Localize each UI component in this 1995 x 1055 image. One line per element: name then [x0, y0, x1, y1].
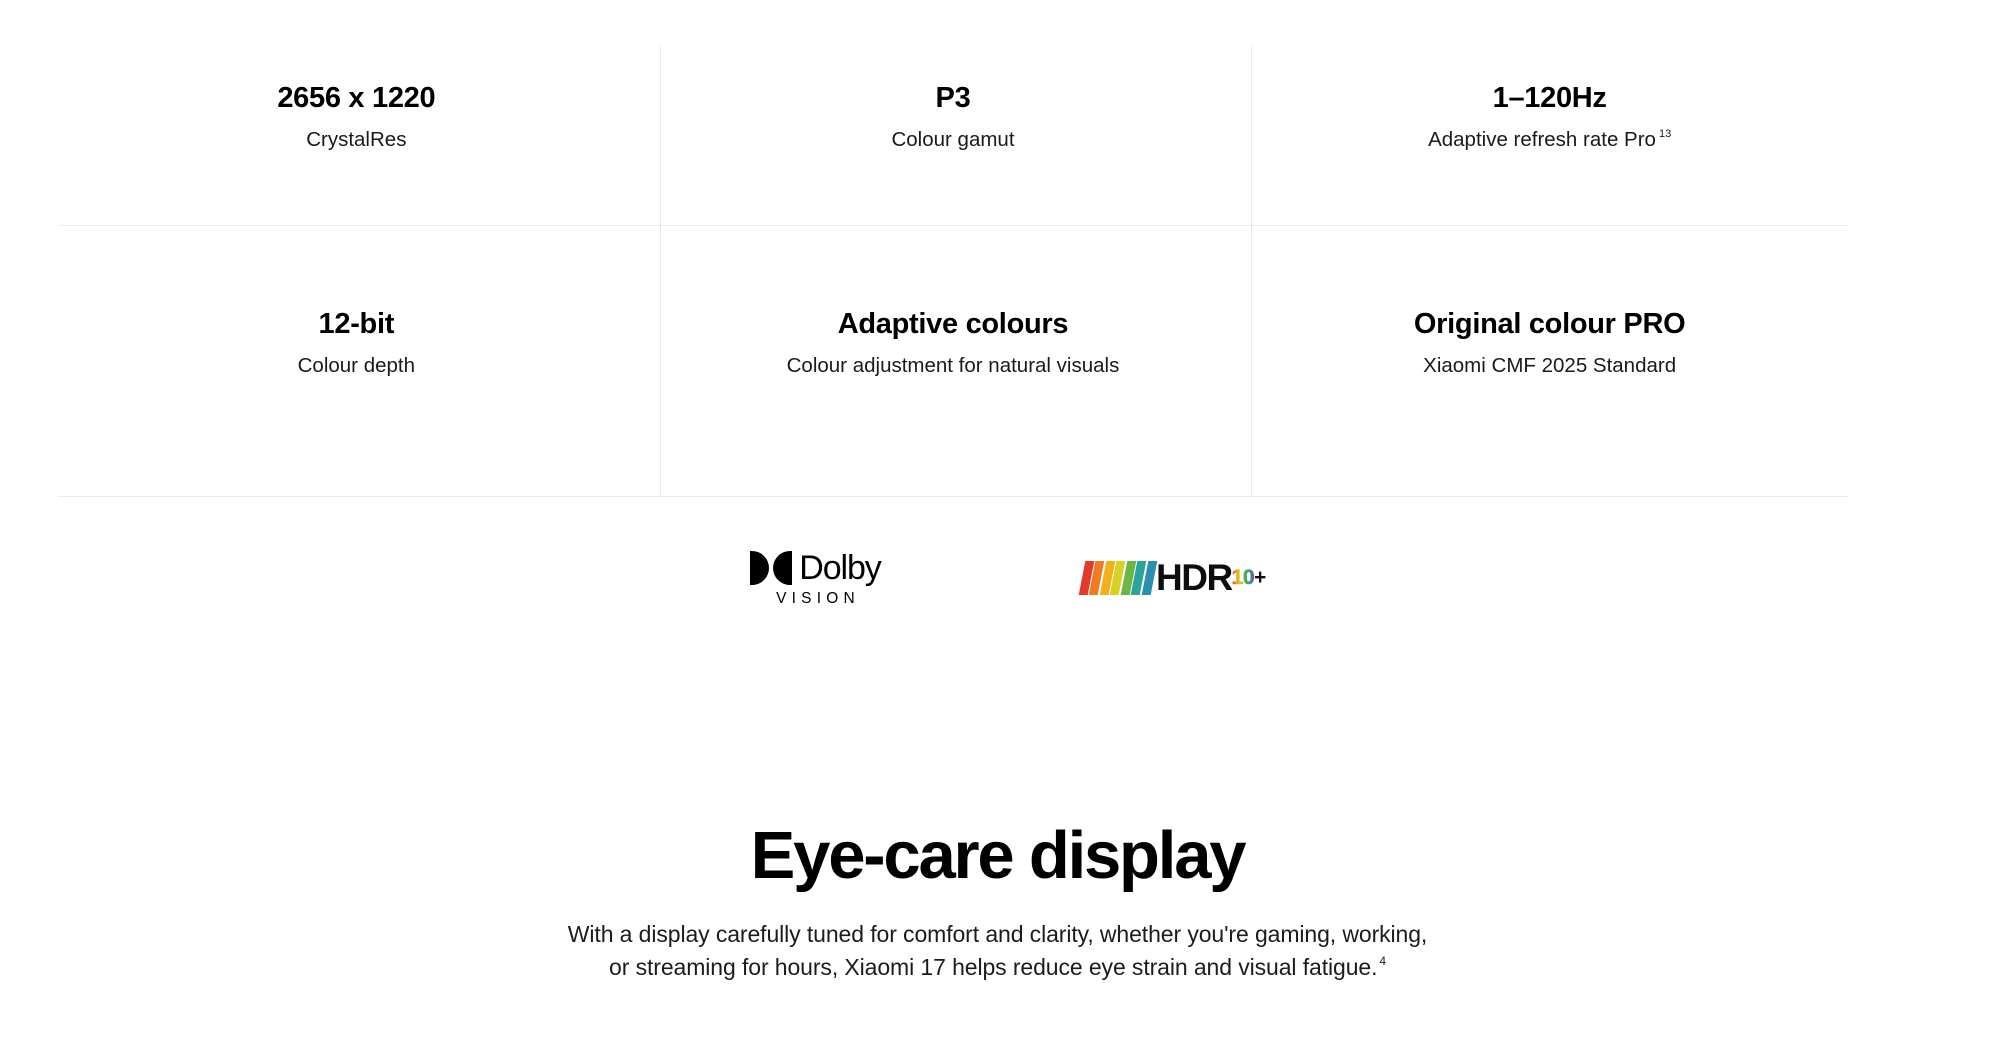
eye-care-description-line-1: With a display carefully tuned for comfo… [568, 921, 1427, 947]
dolby-d-right-shape [773, 551, 792, 585]
certification-logo-row: Dolby VISION HDR 10 + [0, 533, 1995, 623]
spec-cell-adaptive-colours: Adaptive colours Colour adjustment for n… [655, 225, 1252, 497]
grid-divider-horizontal [58, 225, 1848, 226]
grid-divider-vertical [1251, 45, 1252, 225]
spec-label: Colour adjustment for natural visuals [787, 353, 1120, 380]
hdr10plus-icon: HDR 10 + [1082, 557, 1282, 599]
eye-care-description: With a display carefully tuned for comfo… [0, 918, 1995, 983]
grid-divider-vertical [660, 45, 661, 225]
spec-label: Adaptive refresh rate Pro13 [1428, 127, 1671, 154]
grid-divider-vertical [1251, 225, 1252, 497]
spec-cell-colour-gamut: P3 Colour gamut [655, 0, 1252, 225]
hdr-word: HDR [1156, 561, 1232, 595]
display-specs-page: 2656 x 1220 CrystalRes P3 Colour gamut 1… [0, 0, 1995, 1055]
spec-label-text: Colour gamut [891, 128, 1014, 151]
dolby-d-left-shape [750, 551, 769, 585]
dolby-double-d-icon [750, 551, 792, 585]
footnote-marker: 4 [1379, 954, 1386, 968]
spec-value: Original colour PRO [1414, 308, 1685, 341]
spec-grid-row: 12-bit Colour depth Adaptive colours Col… [58, 225, 1848, 497]
spec-cell-refresh-rate: 1–120Hz Adaptive refresh rate Pro13 [1251, 0, 1848, 225]
footnote-marker: 13 [1659, 128, 1671, 140]
dolby-vision-subtext: VISION [771, 591, 860, 607]
spec-value: Adaptive colours [838, 308, 1068, 341]
spec-label: CrystalRes [306, 127, 406, 154]
eye-care-section: Eye-care display With a display carefull… [0, 820, 1995, 984]
spec-cell-colour-depth: 12-bit Colour depth [58, 225, 655, 497]
spec-value: 2656 x 1220 [277, 82, 435, 115]
grid-divider-vertical [660, 225, 661, 497]
spec-grid: 2656 x 1220 CrystalRes P3 Colour gamut 1… [58, 0, 1848, 497]
dolby-vision-icon: Dolby VISION [732, 549, 900, 607]
spec-value: 12-bit [319, 308, 395, 341]
spec-value: P3 [936, 82, 971, 115]
hdr-ten: 10 [1232, 566, 1254, 590]
spec-label: Colour depth [298, 353, 415, 380]
spec-label-text: CrystalRes [306, 128, 406, 151]
spec-label-text: Colour depth [298, 354, 415, 377]
spec-label-text: Colour adjustment for natural visuals [787, 354, 1120, 377]
dolby-word: Dolby [799, 551, 880, 585]
spec-cell-crystalres: 2656 x 1220 CrystalRes [58, 0, 655, 225]
spec-grid-row: 2656 x 1220 CrystalRes P3 Colour gamut 1… [58, 0, 1848, 225]
grid-divider-horizontal [58, 496, 1848, 497]
hdr-colour-bars-icon [1082, 561, 1156, 595]
spec-label-text: Xiaomi CMF 2025 Standard [1423, 354, 1676, 377]
hdr-plus: + [1254, 566, 1266, 590]
page-title: Eye-care display [0, 820, 1995, 892]
eye-care-description-line-2: or streaming for hours, Xiaomi 17 helps … [609, 954, 1377, 980]
spec-label: Colour gamut [891, 127, 1014, 154]
spec-label: Xiaomi CMF 2025 Standard [1423, 353, 1676, 380]
spec-cell-original-colour-pro: Original colour PRO Xiaomi CMF 2025 Stan… [1251, 225, 1848, 497]
spec-label-text: Adaptive refresh rate Pro [1428, 128, 1656, 151]
spec-value: 1–120Hz [1493, 82, 1607, 115]
dolby-vision-wordmark: Dolby [750, 549, 880, 587]
